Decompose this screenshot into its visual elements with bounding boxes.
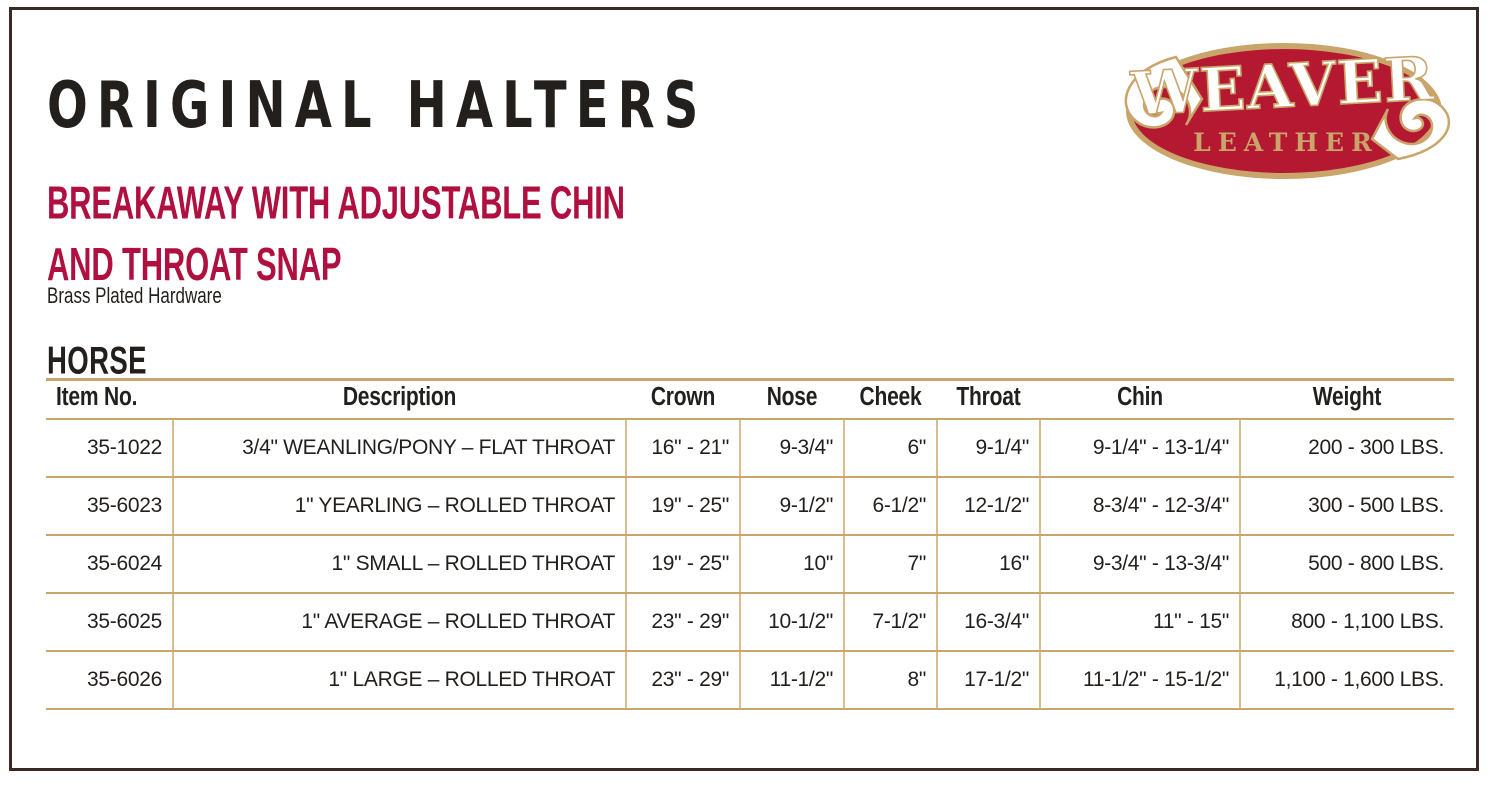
cell-description: 1" AVERAGE – ROLLED THROAT: [173, 593, 626, 651]
cell-crown: 19" - 25": [626, 477, 740, 535]
page-title: ORIGINAL HALTERS: [47, 73, 707, 137]
halter-spec-table: Item No. Description Crown Nose Cheek Th…: [46, 378, 1454, 710]
column-header-crown: Crown: [626, 375, 740, 423]
column-header-throat: Throat: [937, 375, 1040, 423]
cell-throat: 12-1/2": [937, 477, 1040, 535]
cell-nose: 10": [740, 535, 844, 593]
spec-table-wrapper: Item No. Description Crown Nose Cheek Th…: [46, 378, 1454, 710]
cell-item-no: 35-6025: [46, 593, 173, 651]
cell-cheek: 7-1/2": [844, 593, 937, 651]
cell-crown: 23" - 29": [626, 593, 740, 651]
cell-crown: 16" - 21": [626, 419, 740, 477]
weaver-leather-logo: WEAVER LEATHER: [1098, 29, 1468, 194]
cell-nose: 9-3/4": [740, 419, 844, 477]
cell-nose: 9-1/2": [740, 477, 844, 535]
cell-description: 1" YEARLING – ROLLED THROAT: [173, 477, 626, 535]
table-body: 35-1022 3/4" WEANLING/PONY – FLAT THROAT…: [46, 419, 1454, 709]
column-header-nose: Nose: [740, 375, 844, 423]
column-header-cheek: Cheek: [844, 375, 937, 423]
cell-cheek: 8": [844, 651, 937, 709]
table-header: Item No. Description Crown Nose Cheek Th…: [46, 380, 1454, 420]
cell-chin: 11" - 15": [1040, 593, 1240, 651]
cell-chin: 8-3/4" - 12-3/4": [1040, 477, 1240, 535]
table-row: 35-1022 3/4" WEANLING/PONY – FLAT THROAT…: [46, 419, 1454, 477]
column-header-chin: Chin: [1040, 375, 1240, 423]
cell-chin: 9-1/4" - 13-1/4": [1040, 419, 1240, 477]
table-header-row: Item No. Description Crown Nose Cheek Th…: [46, 380, 1454, 420]
cell-cheek: 6-1/2": [844, 477, 937, 535]
cell-throat: 16-3/4": [937, 593, 1040, 651]
header-block: ORIGINAL HALTERS BREAKAWAY WITH ADJUSTAB…: [46, 24, 1454, 324]
cell-item-no: 35-6026: [46, 651, 173, 709]
cell-description: 1" SMALL – ROLLED THROAT: [173, 535, 626, 593]
cell-throat: 16": [937, 535, 1040, 593]
cell-item-no: 35-6024: [46, 535, 173, 593]
cell-description: 1" LARGE – ROLLED THROAT: [173, 651, 626, 709]
cell-throat: 17-1/2": [937, 651, 1040, 709]
cell-nose: 11-1/2": [740, 651, 844, 709]
cell-cheek: 7": [844, 535, 937, 593]
cell-description: 3/4" WEANLING/PONY – FLAT THROAT: [173, 419, 626, 477]
cell-crown: 19" - 25": [626, 535, 740, 593]
cell-cheek: 6": [844, 419, 937, 477]
page-content: ORIGINAL HALTERS BREAKAWAY WITH ADJUSTAB…: [46, 24, 1454, 324]
cell-weight: 500 - 800 LBS.: [1240, 535, 1454, 593]
table-row: 35-6023 1" YEARLING – ROLLED THROAT 19" …: [46, 477, 1454, 535]
table-row: 35-6025 1" AVERAGE – ROLLED THROAT 23" -…: [46, 593, 1454, 651]
column-header-description: Description: [173, 375, 626, 423]
cell-item-no: 35-6023: [46, 477, 173, 535]
table-row: 35-6026 1" LARGE – ROLLED THROAT 23" - 2…: [46, 651, 1454, 709]
column-header-item-no: Item No.: [46, 375, 173, 423]
cell-weight: 1,100 - 1,600 LBS.: [1240, 651, 1454, 709]
cell-item-no: 35-1022: [46, 419, 173, 477]
spec-sheet-page: ORIGINAL HALTERS BREAKAWAY WITH ADJUSTAB…: [0, 0, 1500, 790]
cell-weight: 800 - 1,100 LBS.: [1240, 593, 1454, 651]
cell-nose: 10-1/2": [740, 593, 844, 651]
cell-throat: 9-1/4": [937, 419, 1040, 477]
hardware-note: Brass Plated Hardware: [47, 283, 222, 309]
cell-crown: 23" - 29": [626, 651, 740, 709]
svg-text:LEATHER: LEATHER: [1193, 128, 1379, 157]
cell-chin: 11-1/2" - 15-1/2": [1040, 651, 1240, 709]
page-subtitle: BREAKAWAY WITH ADJUSTABLE CHIN AND THROA…: [47, 172, 947, 296]
table-row: 35-6024 1" SMALL – ROLLED THROAT 19" - 2…: [46, 535, 1454, 593]
cell-weight: 300 - 500 LBS.: [1240, 477, 1454, 535]
column-header-weight: Weight: [1240, 375, 1454, 423]
cell-chin: 9-3/4" - 13-3/4": [1040, 535, 1240, 593]
cell-weight: 200 - 300 LBS.: [1240, 419, 1454, 477]
